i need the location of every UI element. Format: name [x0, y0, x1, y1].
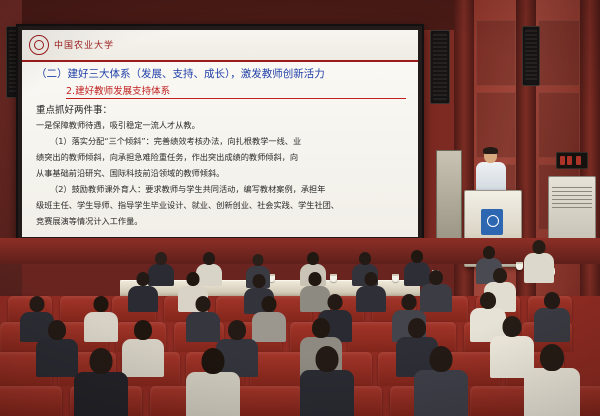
slide-paragraph: 竞赛展演等情况计入工作量。	[36, 214, 404, 228]
slide-paragraph: 一是保障教师待遇，吸引稳定一流人才从教。	[36, 118, 404, 132]
slide-paragraph: 从事基础前沿研究、国际科技前沿领域的教师倾斜。	[36, 166, 404, 180]
wall-speaker-right	[430, 30, 450, 104]
university-seal-logo	[29, 35, 49, 55]
side-door[interactable]	[436, 150, 462, 244]
slide-paragraph: 绩突出的教师倾斜，向承担急难险重任务，作出突出成绩的教师倾斜，向	[36, 150, 404, 164]
screenshot-root: 中国农业大学 （二）建好三大体系（发展、支持、成长），激发教师创新活力 2.建好…	[0, 0, 600, 416]
slide-paragraph: （1）落实分配“三个倾斜”：完善绩效考核办法，向扎根教学一线、业	[36, 134, 404, 148]
cup	[392, 274, 399, 282]
attendee	[524, 344, 580, 416]
attendee	[186, 296, 220, 338]
slide-lead-text: 重点抓好两件事：	[36, 102, 112, 116]
slide-university-name: 中国农业大学	[54, 38, 114, 51]
attendee	[36, 320, 78, 372]
seat	[0, 386, 62, 416]
seat	[348, 322, 398, 356]
wall-speaker-far-right	[522, 26, 540, 86]
attendee	[534, 292, 570, 338]
attendee	[356, 272, 386, 308]
slide-paragraph: 级班主任、学生导师、指导学生毕业设计、就业、创新创业、社会实践、学生社团、	[36, 198, 404, 212]
university-emblem-blue	[481, 209, 503, 235]
attendee	[524, 240, 554, 280]
attendee	[186, 348, 240, 416]
attendee	[84, 296, 118, 338]
attendee	[74, 348, 128, 416]
slide-paragraph: （2）鼓励教师课外育人：要求教师与学生共同活动，编写教材案例，承担年	[36, 182, 404, 196]
seat	[230, 386, 302, 416]
slide-subtitle: 2.建好教师发展支持体系	[66, 83, 406, 99]
attendee	[122, 320, 164, 372]
digital-countdown-clock	[556, 152, 588, 169]
slide-title: （二）建好三大体系（发展、支持、成长），激发教师创新活力	[36, 66, 406, 81]
cup	[516, 262, 523, 270]
slide-body: 一是保障教师待遇，吸引稳定一流人才从教。 （1）落实分配“三个倾斜”：完善绩效考…	[36, 118, 404, 230]
projection-screen-frame: 中国农业大学 （二）建好三大体系（发展、支持、成长），激发教师创新活力 2.建好…	[16, 24, 424, 243]
cup	[330, 274, 337, 282]
projection-screen: 中国农业大学 （二）建好三大体系（发展、支持、成长），激发教师创新活力 2.建好…	[22, 30, 418, 237]
presentation-slide: 中国农业大学 （二）建好三大体系（发展、支持、成长），激发教师创新活力 2.建好…	[22, 30, 418, 237]
attendee	[414, 346, 468, 416]
attendee	[300, 346, 354, 416]
attendee	[128, 272, 158, 308]
